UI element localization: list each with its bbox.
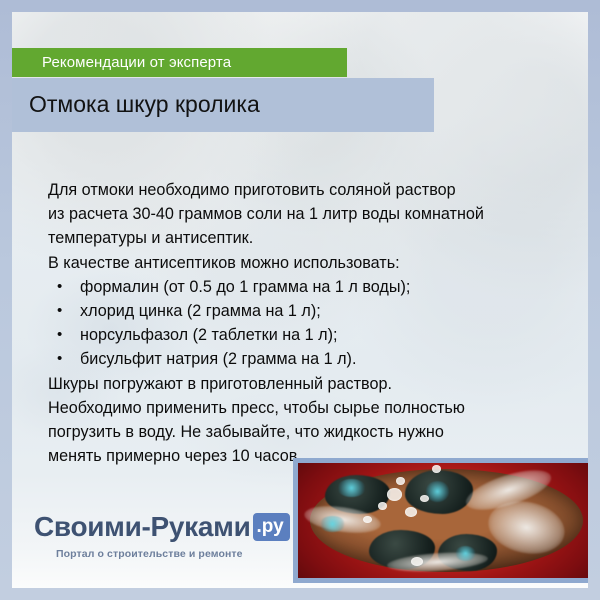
list-item: хлорид цинка (2 грамма на 1 л); [48, 299, 568, 323]
poster: Рекомендации от эксперта Отмока шкур кро… [0, 0, 600, 600]
logo: Своими-Руками .ру [34, 513, 290, 541]
page-title: Отмока шкур кролика [29, 92, 260, 117]
body-copy: Для отмоки необходимо приготовить соляно… [48, 178, 568, 468]
soaking-hides-photo [298, 463, 588, 578]
sheen-highlight [319, 516, 346, 532]
content-sheet: Рекомендации от эксперта Отмока шкур кро… [12, 12, 588, 588]
list-item: формалин (от 0.5 до 1 грамма на 1 л воды… [48, 275, 568, 299]
intro-line: В качестве антисептиков можно использова… [48, 251, 568, 275]
eyebrow-label: Рекомендации от эксперта [42, 55, 231, 70]
bubble [387, 488, 402, 501]
outro-line: погрузить в воду. Не забывайте, что жидк… [48, 420, 568, 444]
bubble [420, 495, 429, 502]
list-item: норсульфазол (2 таблетки на 1 л); [48, 323, 568, 347]
photo-frame [293, 458, 588, 583]
bubble [396, 477, 405, 485]
outro-line: Шкуры погружают в приготовленный раствор… [48, 372, 568, 396]
outro-line: Необходимо применить пресс, чтобы сырье … [48, 396, 568, 420]
bubble [363, 516, 372, 523]
title-band: Отмока шкур кролика [12, 78, 434, 132]
bubble [432, 465, 441, 473]
intro-line: температуры и антисептик. [48, 226, 568, 250]
list-item: бисульфит натрия (2 грамма на 1 л). [48, 347, 568, 371]
intro-line: Для отмоки необходимо приготовить соляно… [48, 178, 568, 202]
logo-tagline: Портал о строительстве и ремонте [56, 548, 243, 560]
logo-name: Своими-Руками [34, 513, 251, 541]
intro-line: из расчета 30-40 граммов соли на 1 литр … [48, 202, 568, 226]
antiseptic-list: формалин (от 0.5 до 1 грамма на 1 л воды… [48, 275, 568, 372]
bubble [405, 507, 417, 517]
logo-domain-badge: .ру [253, 513, 290, 541]
sheen-highlight [455, 546, 476, 561]
eyebrow-banner: Рекомендации от эксперта [12, 48, 347, 77]
watermark: Своими-Руками .ру Портал о строительстве… [34, 513, 290, 560]
